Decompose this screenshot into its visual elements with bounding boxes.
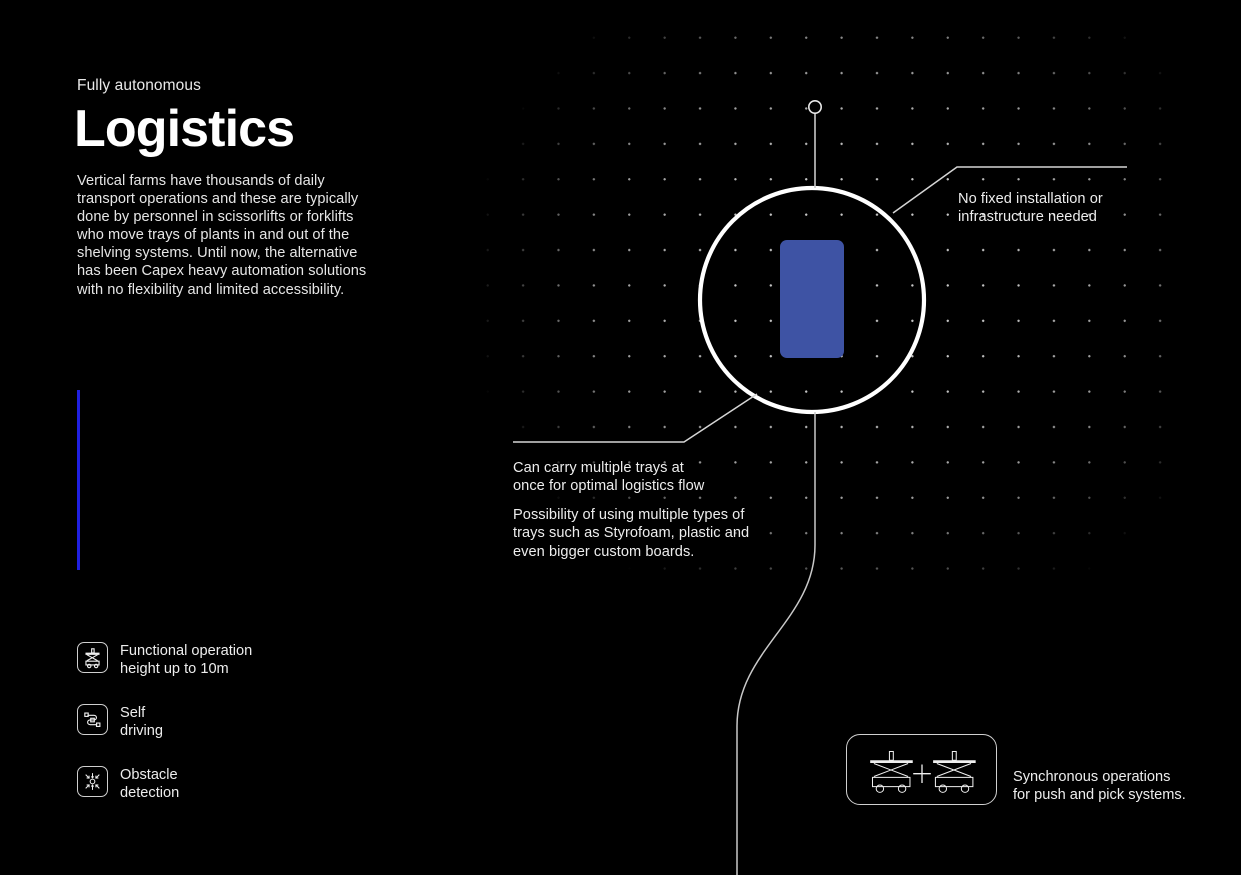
eyebrow-text: Fully autonomous	[77, 76, 201, 96]
sync-operations-label: Synchronous operations for push and pick…	[1013, 768, 1213, 805]
callout-tray-types: Possibility of using multiple types of t…	[513, 506, 763, 561]
route-icon	[77, 704, 108, 735]
feature-item-obstacle-detection: Obstacle detection	[77, 766, 407, 828]
page-title: Logistics	[74, 100, 294, 158]
sync-operations-badge	[846, 734, 997, 805]
feature-label: Obstacle detection	[120, 766, 179, 802]
feature-item-functional-operation: Functional operation height up to 10m	[77, 642, 407, 704]
feature-list: Functional operation height up to 10m Se…	[77, 642, 407, 828]
antenna-marker-icon	[809, 101, 821, 113]
tray-block	[780, 240, 844, 358]
dual-scissorlift-plus-icon	[860, 745, 984, 795]
accent-bar	[77, 390, 80, 570]
scissorlift-icon	[77, 642, 108, 673]
feature-item-self-driving: Self driving	[77, 704, 407, 766]
intro-paragraph: Vertical farms have thousands of daily t…	[77, 172, 377, 299]
feature-label: Functional operation height up to 10m	[120, 642, 252, 678]
feature-label: Self driving	[120, 704, 163, 740]
leader-line-multiple-trays	[513, 394, 757, 442]
slide-canvas: Fully autonomous Logistics Vertical farm…	[0, 0, 1241, 875]
callout-multiple-trays: Can carry multiple trays at once for opt…	[513, 459, 763, 496]
callout-no-fixed-installation: No fixed installation or infrastructure …	[958, 190, 1178, 227]
obstacle-detection-icon	[77, 766, 108, 797]
